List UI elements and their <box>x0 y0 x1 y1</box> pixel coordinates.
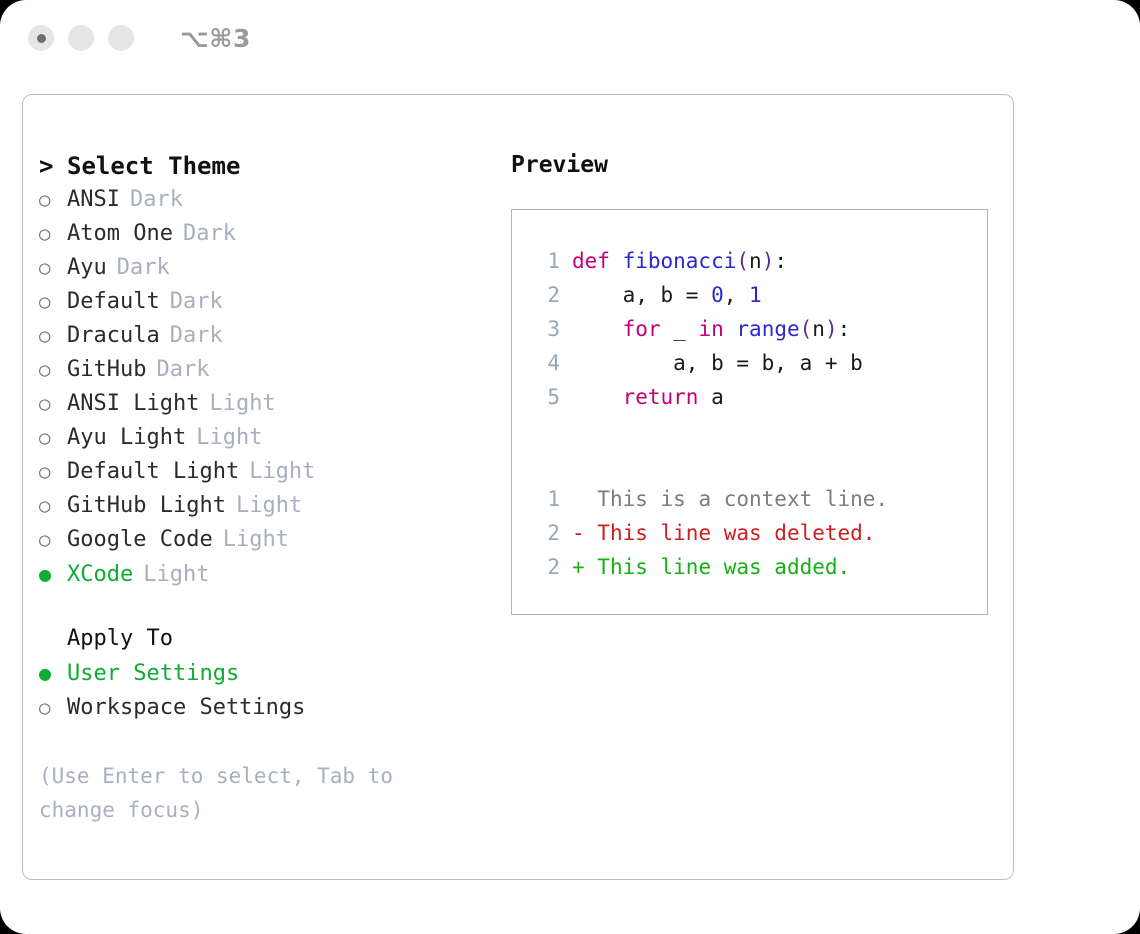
apply-to-label: User Settings <box>67 657 239 691</box>
theme-list-item[interactable]: ○GitHubDark <box>39 353 501 387</box>
code-token-plain: : <box>774 244 787 278</box>
theme-selector-column: > Select Theme ○ANSIDark○Atom OneDark○Ay… <box>23 95 501 879</box>
radio-unselected-icon: ○ <box>39 353 67 387</box>
theme-name-label: XCode <box>67 558 133 592</box>
code-line-number: 1 <box>530 244 560 278</box>
theme-variant-badge: Light <box>196 421 262 455</box>
diff-line: 2- This line was deleted. <box>530 516 987 550</box>
code-token-plain <box>572 380 623 414</box>
radio-unselected-icon: ○ <box>39 285 67 319</box>
code-token-kw: for <box>623 312 661 346</box>
diff-line-number: 1 <box>530 482 560 516</box>
code-token-plain: , <box>724 278 749 312</box>
diff-text: This is a context line. <box>585 482 888 516</box>
code-line: 4 a, b = b, a + b <box>530 346 987 380</box>
radio-unselected-icon: ○ <box>39 523 67 557</box>
theme-variant-badge: Dark <box>183 217 236 251</box>
theme-name-label: ANSI <box>67 183 120 217</box>
theme-list-item[interactable]: ○ANSI LightLight <box>39 387 501 421</box>
code-spacer-2 <box>530 448 987 482</box>
window-control-maximize[interactable] <box>108 25 134 51</box>
diff-text: This line was added. <box>585 550 851 584</box>
apply-to-list: ●User Settings○Workspace Settings <box>39 656 501 725</box>
theme-variant-badge: Dark <box>170 319 223 353</box>
code-token-punc: ( <box>736 244 749 278</box>
window-dot-active-icon <box>37 34 46 43</box>
apply-to-heading-label: Apply To <box>67 622 173 656</box>
code-line-number: 2 <box>530 278 560 312</box>
theme-name-label: Google Code <box>67 523 213 557</box>
diff-line: 1 This is a context line. <box>530 482 987 516</box>
code-token-plain: a, b = <box>572 278 711 312</box>
keyboard-hint-text: (Use Enter to select, Tab to change focu… <box>39 759 449 827</box>
code-token-plain: a, b = b, a + b <box>572 346 863 380</box>
apply-to-label: Workspace Settings <box>67 691 305 725</box>
theme-variant-badge: Light <box>236 489 302 523</box>
code-token-kw: def <box>572 244 623 278</box>
theme-variant-badge: Dark <box>156 353 209 387</box>
section-spacer <box>39 592 501 622</box>
theme-list-item[interactable]: ●XCodeLight <box>39 557 501 592</box>
theme-name-label: ANSI Light <box>67 387 199 421</box>
diff-sign: + <box>572 550 585 584</box>
theme-list-item[interactable]: ○Default LightLight <box>39 455 501 489</box>
code-token-plain: : <box>838 312 851 346</box>
apply-to-item[interactable]: ●User Settings <box>39 656 501 691</box>
code-line: 2 a, b = 0, 1 <box>530 278 987 312</box>
theme-list-item[interactable]: ○ANSIDark <box>39 183 501 217</box>
theme-list-item[interactable]: ○Google CodeLight <box>39 523 501 557</box>
radio-unselected-icon: ○ <box>39 217 67 251</box>
code-token-num: 1 <box>749 278 762 312</box>
radio-unselected-icon: ○ <box>39 455 67 489</box>
theme-variant-badge: Dark <box>130 183 183 217</box>
theme-variant-badge: Dark <box>170 285 223 319</box>
radio-unselected-icon: ○ <box>39 251 67 285</box>
keyboard-shortcut-label: ⌥⌘3 <box>180 24 251 53</box>
prompt-caret-icon: > <box>39 149 67 183</box>
theme-name-label: GitHub <box>67 353 146 387</box>
code-token-num: 0 <box>711 278 724 312</box>
diff-line-number: 2 <box>530 516 560 550</box>
panel-columns: > Select Theme ○ANSIDark○Atom OneDark○Ay… <box>23 95 1013 879</box>
main-panel: > Select Theme ○ANSIDark○Atom OneDark○Ay… <box>22 94 1014 880</box>
code-token-punc: ) <box>825 312 838 346</box>
code-token-plain: a <box>698 380 723 414</box>
code-token-punc: ) <box>762 244 775 278</box>
code-line-number: 4 <box>530 346 560 380</box>
theme-list: ○ANSIDark○Atom OneDark○AyuDark○DefaultDa… <box>39 183 501 592</box>
code-token-plain <box>724 312 737 346</box>
code-sample: 1def fibonacci(n):2 a, b = 0, 13 for _ i… <box>530 244 987 414</box>
code-token-plain: n <box>812 312 825 346</box>
diff-text: This line was deleted. <box>585 516 876 550</box>
theme-list-item[interactable]: ○Atom OneDark <box>39 217 501 251</box>
select-theme-heading: > Select Theme <box>39 149 501 183</box>
code-token-plain: _ <box>661 312 699 346</box>
code-line-number: 5 <box>530 380 560 414</box>
code-line: 3 for _ in range(n): <box>530 312 987 346</box>
radio-unselected-icon: ○ <box>39 183 67 217</box>
code-token-plain <box>572 312 623 346</box>
radio-unselected-icon: ○ <box>39 387 67 421</box>
code-spacer <box>530 414 987 448</box>
apply-to-heading-spacer: ○ <box>39 622 67 656</box>
theme-variant-badge: Light <box>223 523 289 557</box>
code-token-fn: range <box>736 312 799 346</box>
theme-name-label: Ayu Light <box>67 421 186 455</box>
preview-box: 1def fibonacci(n):2 a, b = 0, 13 for _ i… <box>511 209 988 615</box>
radio-selected-icon: ● <box>39 656 67 690</box>
theme-name-label: Ayu <box>67 251 107 285</box>
radio-unselected-icon: ○ <box>39 319 67 353</box>
code-token-kw: return <box>623 380 699 414</box>
radio-unselected-icon: ○ <box>39 691 67 725</box>
theme-variant-badge: Light <box>143 558 209 592</box>
diff-line-number: 2 <box>530 550 560 584</box>
code-token-plain: n <box>749 244 762 278</box>
app-window: ⌥⌘3 > Select Theme ○ANSIDark○Atom OneDar… <box>0 0 1140 934</box>
theme-name-label: Default <box>67 285 160 319</box>
theme-name-label: Default Light <box>67 455 239 489</box>
preview-column: Preview 1def fibonacci(n):2 a, b = 0, 13… <box>501 95 1013 879</box>
radio-unselected-icon: ○ <box>39 421 67 455</box>
apply-to-item[interactable]: ○Workspace Settings <box>39 691 501 725</box>
code-token-kw: in <box>698 312 723 346</box>
code-token-punc: ( <box>800 312 813 346</box>
theme-variant-badge: Light <box>209 387 275 421</box>
theme-name-label: GitHub Light <box>67 489 226 523</box>
theme-variant-badge: Light <box>249 455 315 489</box>
select-theme-heading-label: Select Theme <box>67 149 240 183</box>
code-line: 1def fibonacci(n): <box>530 244 987 278</box>
theme-list-item[interactable]: ○GitHub LightLight <box>39 489 501 523</box>
code-token-fn: fibonacci <box>623 244 737 278</box>
window-control-minimize[interactable] <box>68 25 94 51</box>
radio-unselected-icon: ○ <box>39 489 67 523</box>
code-line: 5 return a <box>530 380 987 414</box>
theme-variant-badge: Dark <box>117 251 170 285</box>
diff-sign <box>572 482 585 516</box>
theme-name-label: Dracula <box>67 319 160 353</box>
diff-line: 2+ This line was added. <box>530 550 987 584</box>
apply-to-heading: ○ Apply To <box>39 622 501 656</box>
preview-title: Preview <box>511 149 1013 181</box>
code-line-number: 3 <box>530 312 560 346</box>
radio-selected-icon: ● <box>39 557 67 591</box>
diff-sign: - <box>572 516 585 550</box>
window-control-close[interactable] <box>28 25 54 51</box>
title-bar: ⌥⌘3 <box>0 0 1140 76</box>
theme-list-item[interactable]: ○Ayu LightLight <box>39 421 501 455</box>
theme-list-item[interactable]: ○AyuDark <box>39 251 501 285</box>
theme-list-item[interactable]: ○DraculaDark <box>39 319 501 353</box>
theme-name-label: Atom One <box>67 217 173 251</box>
theme-list-item[interactable]: ○DefaultDark <box>39 285 501 319</box>
diff-sample: 1 This is a context line.2- This line wa… <box>530 482 987 584</box>
